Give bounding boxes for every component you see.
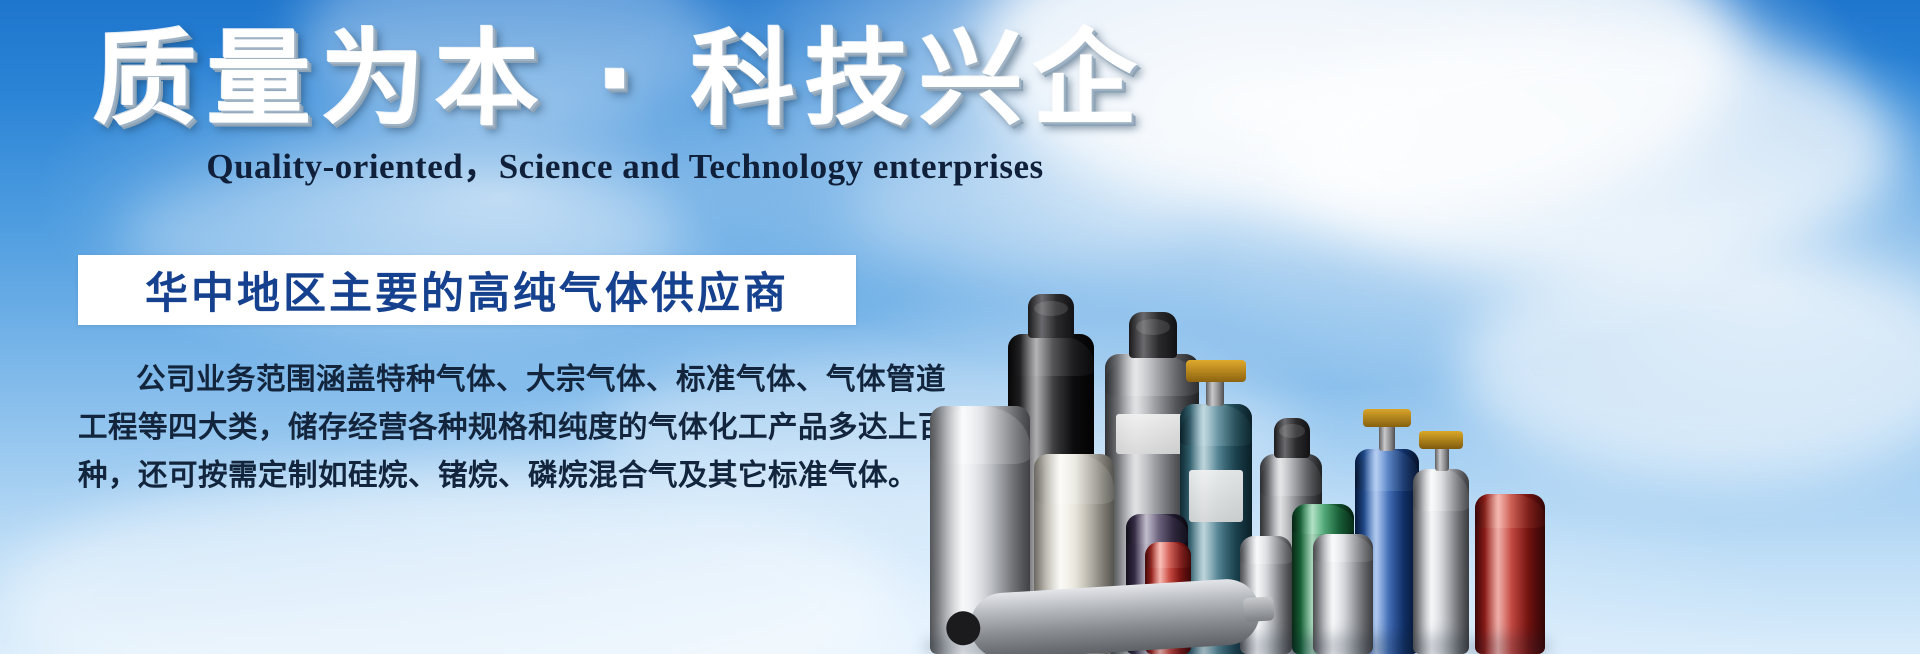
red-large-cylinder bbox=[1475, 494, 1545, 654]
cylinder-label bbox=[1116, 414, 1187, 454]
description-line: 工程等四大类，储存经营各种规格和纯度的气体化工产品多达上百 bbox=[78, 403, 868, 451]
highlight-box-text: 华中地区主要的高纯气体供应商 bbox=[145, 259, 789, 321]
banner-headline: 质量为本 · 科技兴企 bbox=[0, 20, 1240, 139]
highlight-box: 华中地区主要的高纯气体供应商 bbox=[78, 255, 856, 325]
description-line: 种，还可按需定制如硅烷、锗烷、磷烷混合气及其它标准气体。 bbox=[78, 451, 868, 499]
cylinder-cap bbox=[1274, 418, 1310, 458]
cylinder-label bbox=[1189, 470, 1244, 522]
cylinder-cap bbox=[1129, 312, 1177, 358]
gas-cylinder-group-image bbox=[930, 140, 1920, 654]
aluminium-cylinder-2 bbox=[1413, 469, 1469, 654]
brass-valve bbox=[1363, 409, 1411, 427]
cylinder-neck bbox=[1379, 425, 1395, 451]
aluminium-cylinder-3 bbox=[1313, 534, 1373, 654]
description-line: 公司业务范围涵盖特种气体、大宗气体、标准气体、气体管道 bbox=[78, 355, 868, 403]
cylinder-cap bbox=[1028, 294, 1074, 338]
promotional-banner: 质量为本 · 科技兴企 Quality-oriented，Science and… bbox=[0, 0, 1920, 654]
banner-description: 公司业务范围涵盖特种气体、大宗气体、标准气体、气体管道 工程等四大类，储存经营各… bbox=[78, 355, 868, 498]
brass-valve bbox=[1186, 360, 1246, 382]
cylinder-neck bbox=[1206, 378, 1224, 406]
brass-valve bbox=[1419, 431, 1463, 449]
cylinder-neck bbox=[1435, 447, 1449, 471]
